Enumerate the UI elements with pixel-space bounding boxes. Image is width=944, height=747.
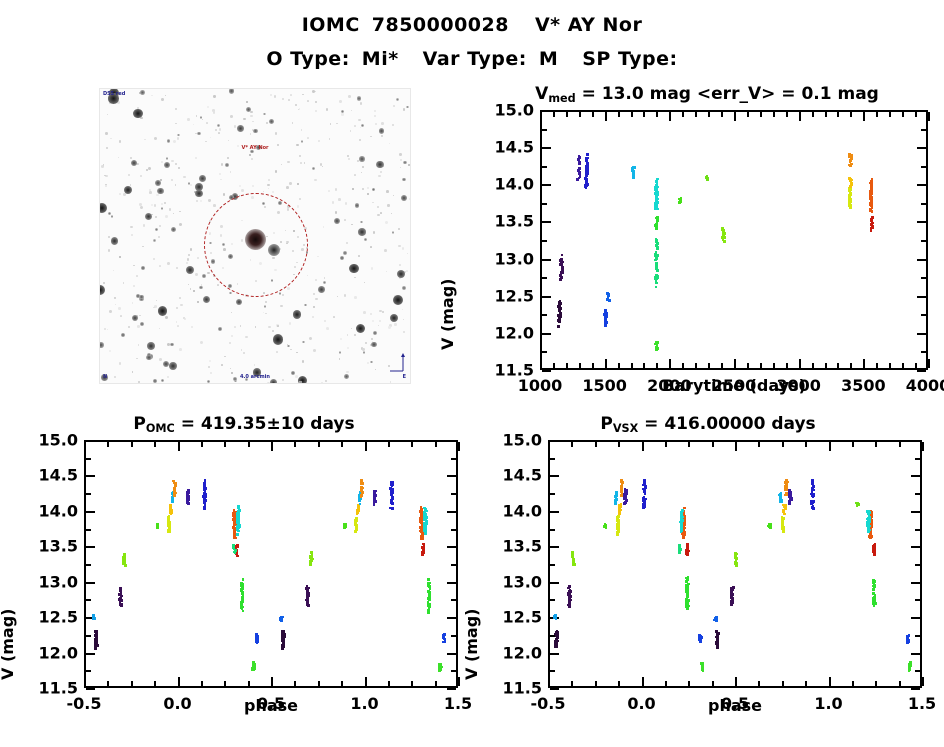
data-point (389, 487, 392, 490)
chart-anno-target-name: V* AY Nor (241, 145, 268, 151)
background-noise (119, 193, 121, 195)
background-noise (266, 122, 268, 124)
background-noise (313, 306, 314, 307)
axis-tick (271, 677, 273, 686)
background-noise (290, 94, 292, 96)
background-noise (300, 162, 302, 164)
page-title: IOMC7850000028V* AY Nor (0, 14, 944, 36)
background-noise (296, 144, 299, 147)
data-point (579, 175, 582, 178)
data-point (655, 263, 658, 266)
field-star (363, 351, 365, 353)
field-star (153, 239, 155, 241)
background-noise (171, 179, 172, 180)
data-point (236, 513, 239, 516)
axis-tick (922, 442, 924, 451)
axis-tick (542, 203, 547, 205)
axis-tick (721, 363, 723, 368)
y-axis-tick-label: 12.0 (480, 323, 534, 342)
data-point (554, 614, 557, 617)
background-noise (144, 139, 145, 140)
background-noise (255, 326, 257, 328)
axis-tick (86, 564, 91, 566)
field-star (358, 228, 365, 235)
data-point (559, 274, 562, 277)
axis-tick (917, 259, 926, 261)
background-noise (240, 325, 241, 326)
axis-tick (435, 442, 437, 447)
field-star (408, 164, 410, 166)
background-noise (107, 114, 108, 115)
axis-tick (915, 112, 917, 117)
field-star (393, 295, 403, 305)
background-noise (187, 118, 190, 121)
field-star (397, 270, 405, 278)
background-noise (389, 143, 391, 145)
field-star (145, 213, 152, 220)
background-noise (178, 167, 180, 169)
axis-tick (542, 110, 551, 112)
axis-tick (86, 458, 91, 460)
axis-tick (921, 277, 926, 279)
background-noise (336, 123, 338, 125)
field-star (403, 161, 407, 165)
background-noise (221, 163, 223, 165)
phase-omc-title: POMC = 419.35±10 days (24, 414, 464, 435)
data-point (687, 583, 690, 586)
background-noise (347, 347, 349, 349)
axis-tick (921, 314, 926, 316)
data-point (187, 489, 190, 492)
data-point (360, 494, 363, 497)
data-point (427, 609, 430, 612)
data-point (203, 500, 206, 503)
data-point (868, 529, 871, 532)
field-star (297, 183, 299, 185)
axis-tick (876, 363, 878, 368)
data-point (355, 517, 358, 520)
background-noise (207, 272, 210, 275)
background-noise (333, 316, 335, 318)
axis-tick (447, 546, 456, 548)
background-noise (358, 255, 360, 257)
axis-tick (107, 681, 109, 686)
data-point (578, 158, 581, 161)
data-point (655, 254, 658, 257)
field-star (357, 96, 361, 100)
background-noise (180, 304, 182, 306)
background-noise (119, 362, 121, 364)
data-point (717, 633, 720, 636)
field-star (197, 301, 199, 303)
background-noise (399, 264, 401, 266)
axis-tick (917, 296, 926, 298)
axis-tick (550, 670, 555, 672)
background-noise (272, 330, 274, 332)
x-axis-tick-label: 1.5 (908, 694, 936, 713)
data-point (855, 502, 858, 505)
background-noise (167, 262, 170, 265)
axis-tick (758, 681, 760, 686)
background-noise (354, 174, 356, 176)
field-star (392, 231, 394, 233)
data-point (307, 601, 310, 604)
background-noise (156, 300, 157, 301)
data-point (604, 324, 607, 327)
axis-tick (451, 670, 456, 672)
data-point (655, 186, 658, 189)
data-point (389, 507, 392, 510)
axis-tick (447, 653, 456, 655)
lightcurve-plot-area[interactable] (540, 110, 928, 370)
background-noise (323, 226, 325, 228)
data-point (731, 587, 734, 590)
field-star (249, 154, 252, 157)
background-noise (402, 309, 403, 310)
background-noise (295, 104, 297, 106)
axis-tick (735, 442, 737, 451)
background-noise (406, 270, 408, 272)
data-point (283, 633, 286, 636)
background-noise (202, 119, 203, 120)
x-axis-tick-label: 2500 (712, 376, 757, 395)
data-point (95, 633, 98, 636)
axis-tick (542, 296, 551, 298)
background-noise (104, 328, 106, 330)
lightcurve-title: Vmed = 13.0 mag <err_V> = 0.1 mag (482, 84, 932, 105)
data-point (868, 516, 871, 519)
field-star (161, 379, 164, 382)
data-point (360, 486, 363, 489)
background-noise (315, 298, 317, 300)
background-noise (196, 115, 198, 117)
data-point (232, 544, 235, 547)
phase-omc-panel: POMC = 419.35±10 days V (mag) phase 11.5… (0, 414, 480, 744)
data-point (428, 598, 431, 601)
axis-tick (642, 442, 644, 451)
background-noise (219, 173, 221, 175)
data-point (870, 187, 873, 190)
axis-tick (688, 442, 690, 447)
axis-tick (837, 363, 839, 368)
y-axis-tick-label: 14.0 (480, 175, 534, 194)
data-point (585, 181, 588, 184)
data-point (120, 603, 123, 606)
star-name: V* AY Nor (535, 14, 642, 36)
background-noise (267, 184, 269, 186)
field-star (339, 351, 341, 353)
background-noise (109, 350, 111, 352)
data-point (678, 544, 681, 547)
y-axis-tick-label: 14.0 (488, 501, 542, 520)
background-noise (208, 366, 209, 367)
background-noise (282, 379, 284, 381)
field-star (119, 256, 121, 258)
background-noise (348, 158, 350, 160)
background-noise (339, 100, 342, 103)
background-noise (138, 344, 140, 346)
background-noise (315, 101, 317, 103)
finding-chart[interactable]: DSS red V* AY Nor N 4.0 arcmin E (99, 88, 411, 384)
data-point (420, 506, 423, 509)
data-point (656, 216, 659, 219)
background-noise (289, 182, 292, 185)
data-point (615, 491, 618, 494)
field-star (197, 132, 201, 136)
background-noise (131, 234, 134, 237)
background-noise (315, 110, 317, 112)
data-point (95, 638, 98, 641)
data-point (373, 498, 376, 501)
axis-tick (812, 112, 814, 117)
background-noise (381, 135, 382, 136)
axis-tick (595, 442, 597, 447)
vmed-value: = 13.0 mag (582, 84, 691, 104)
axis-tick (782, 442, 784, 447)
background-noise (382, 311, 385, 314)
axis-tick (447, 688, 456, 690)
background-noise (151, 95, 153, 97)
background-noise (387, 204, 389, 206)
data-point (810, 493, 813, 496)
data-point (242, 578, 245, 581)
axis-tick (542, 147, 551, 149)
data-point (120, 595, 123, 598)
data-point (788, 489, 791, 492)
axis-tick (863, 112, 865, 121)
background-noise (347, 334, 349, 336)
background-noise (161, 161, 163, 163)
data-point (560, 271, 563, 274)
field-star (111, 237, 118, 244)
field-star (312, 167, 315, 170)
axis-tick (318, 442, 320, 447)
background-noise (109, 310, 112, 313)
field-star (237, 125, 244, 132)
background-noise (359, 139, 361, 141)
background-noise (140, 175, 142, 177)
data-point (423, 528, 426, 531)
background-noise (159, 225, 161, 227)
x-axis-tick-label: 0.5 (257, 694, 285, 713)
background-noise (133, 265, 135, 267)
axis-tick (799, 359, 801, 368)
background-noise (277, 325, 279, 327)
axis-tick (915, 564, 920, 566)
field-star (160, 179, 162, 181)
data-point (203, 507, 206, 510)
data-point (586, 153, 589, 156)
data-point (655, 238, 658, 241)
axis-tick (542, 370, 551, 372)
axis-tick (548, 442, 550, 451)
data-point (96, 644, 99, 647)
background-noise (344, 219, 346, 221)
field-star (171, 227, 176, 232)
field-star (218, 327, 222, 331)
data-point (655, 286, 658, 289)
background-noise (364, 282, 365, 283)
data-point (869, 208, 872, 211)
axis-tick (773, 363, 775, 368)
data-point (909, 661, 912, 664)
axis-tick (799, 112, 801, 121)
data-point (811, 479, 814, 482)
axis-tick (618, 681, 620, 686)
data-point (780, 492, 783, 495)
data-point (687, 547, 690, 550)
background-noise (159, 358, 162, 361)
phase-omc-plot-area[interactable] (84, 440, 458, 688)
background-noise (230, 171, 232, 173)
field-star (287, 345, 290, 348)
data-point (427, 601, 430, 604)
data-point (781, 516, 784, 519)
data-point (624, 489, 627, 492)
background-noise (363, 311, 366, 314)
data-point (869, 195, 872, 198)
background-noise (377, 206, 379, 208)
background-noise (197, 257, 200, 260)
field-star (401, 195, 407, 201)
axis-tick (294, 681, 296, 686)
axis-tick (411, 681, 413, 686)
axis-tick (917, 333, 926, 335)
data-point (169, 504, 172, 507)
background-noise (375, 369, 376, 370)
field-star (318, 286, 325, 293)
background-noise (136, 358, 137, 359)
field-star (141, 266, 145, 270)
field-star (323, 281, 326, 284)
axis-tick (451, 458, 456, 460)
axis-tick (928, 359, 930, 368)
background-noise (142, 246, 144, 248)
background-noise (108, 236, 110, 238)
data-point (680, 529, 683, 532)
data-point (633, 166, 636, 169)
axis-tick (224, 442, 226, 447)
background-noise (268, 326, 271, 329)
field-star (170, 343, 174, 347)
x-axis-tick-label: 3000 (776, 376, 821, 395)
background-noise (164, 202, 167, 205)
data-point (811, 487, 814, 490)
axis-tick (852, 442, 854, 447)
data-point (359, 503, 362, 506)
background-noise (130, 184, 132, 186)
background-noise (153, 258, 155, 260)
background-noise (354, 277, 356, 279)
axis-tick (86, 635, 91, 637)
background-noise (154, 137, 157, 140)
axis-tick (550, 440, 559, 442)
lightcurve-ylabel: V (mag) (438, 279, 457, 351)
x-axis-tick-label: 3500 (841, 376, 886, 395)
background-noise (371, 267, 373, 269)
data-point (656, 247, 659, 250)
data-point (236, 529, 239, 532)
background-noise (375, 123, 377, 125)
axis-tick (915, 458, 920, 460)
x-axis-tick-label: 1500 (582, 376, 627, 395)
axis-tick (435, 681, 437, 686)
background-noise (378, 325, 379, 326)
axis-tick (154, 442, 156, 447)
data-point (848, 153, 851, 156)
background-noise (393, 105, 395, 107)
x-axis-tick-label: 1000 (518, 376, 563, 395)
background-noise (176, 267, 178, 269)
field-star (361, 124, 364, 127)
data-point (585, 175, 588, 178)
axis-tick (682, 112, 684, 117)
background-noise (110, 138, 112, 140)
background-noise (407, 253, 408, 254)
field-star (356, 324, 365, 333)
data-point (423, 507, 426, 510)
field-star (167, 139, 170, 142)
axis-tick (248, 681, 250, 686)
data-point (620, 480, 623, 483)
data-point (625, 492, 628, 495)
axis-tick (805, 442, 807, 447)
background-noise (190, 288, 191, 289)
axis-tick (548, 677, 550, 686)
background-noise (230, 368, 232, 370)
background-noise (234, 326, 236, 328)
background-noise (281, 164, 282, 165)
background-noise (118, 307, 121, 310)
background-noise (380, 171, 382, 173)
field-star (304, 304, 307, 307)
field-star (111, 215, 114, 218)
axis-tick (917, 110, 926, 112)
data-point (655, 267, 658, 270)
axis-tick (863, 359, 865, 368)
axis-tick (550, 599, 555, 601)
background-noise (365, 342, 368, 345)
axis-tick (550, 653, 559, 655)
field-star (236, 299, 243, 306)
y-axis-tick-label: 13.5 (488, 537, 542, 556)
data-point (870, 229, 873, 232)
axis-tick (550, 688, 559, 690)
data-point (769, 523, 772, 526)
background-noise (374, 115, 376, 117)
data-point (872, 588, 875, 591)
field-star (193, 290, 195, 292)
background-noise (409, 198, 411, 201)
background-noise (128, 174, 130, 176)
axis-tick (294, 442, 296, 447)
background-noise (205, 141, 206, 142)
data-point (632, 170, 635, 173)
field-star (233, 377, 237, 381)
axis-tick (643, 363, 645, 368)
data-point (585, 178, 588, 181)
field-star (301, 140, 303, 142)
y-axis-tick-label: 15.0 (24, 431, 78, 450)
data-point (423, 512, 426, 515)
field-star (390, 314, 398, 322)
sp-type-label: SP Type: (582, 48, 677, 70)
chart-anno-scale: 4.0 arcmin (240, 374, 270, 380)
field-star (199, 175, 206, 182)
chart-anno-top-left: DSS red (103, 91, 125, 97)
data-point (281, 616, 284, 619)
axis-tick (605, 359, 607, 368)
